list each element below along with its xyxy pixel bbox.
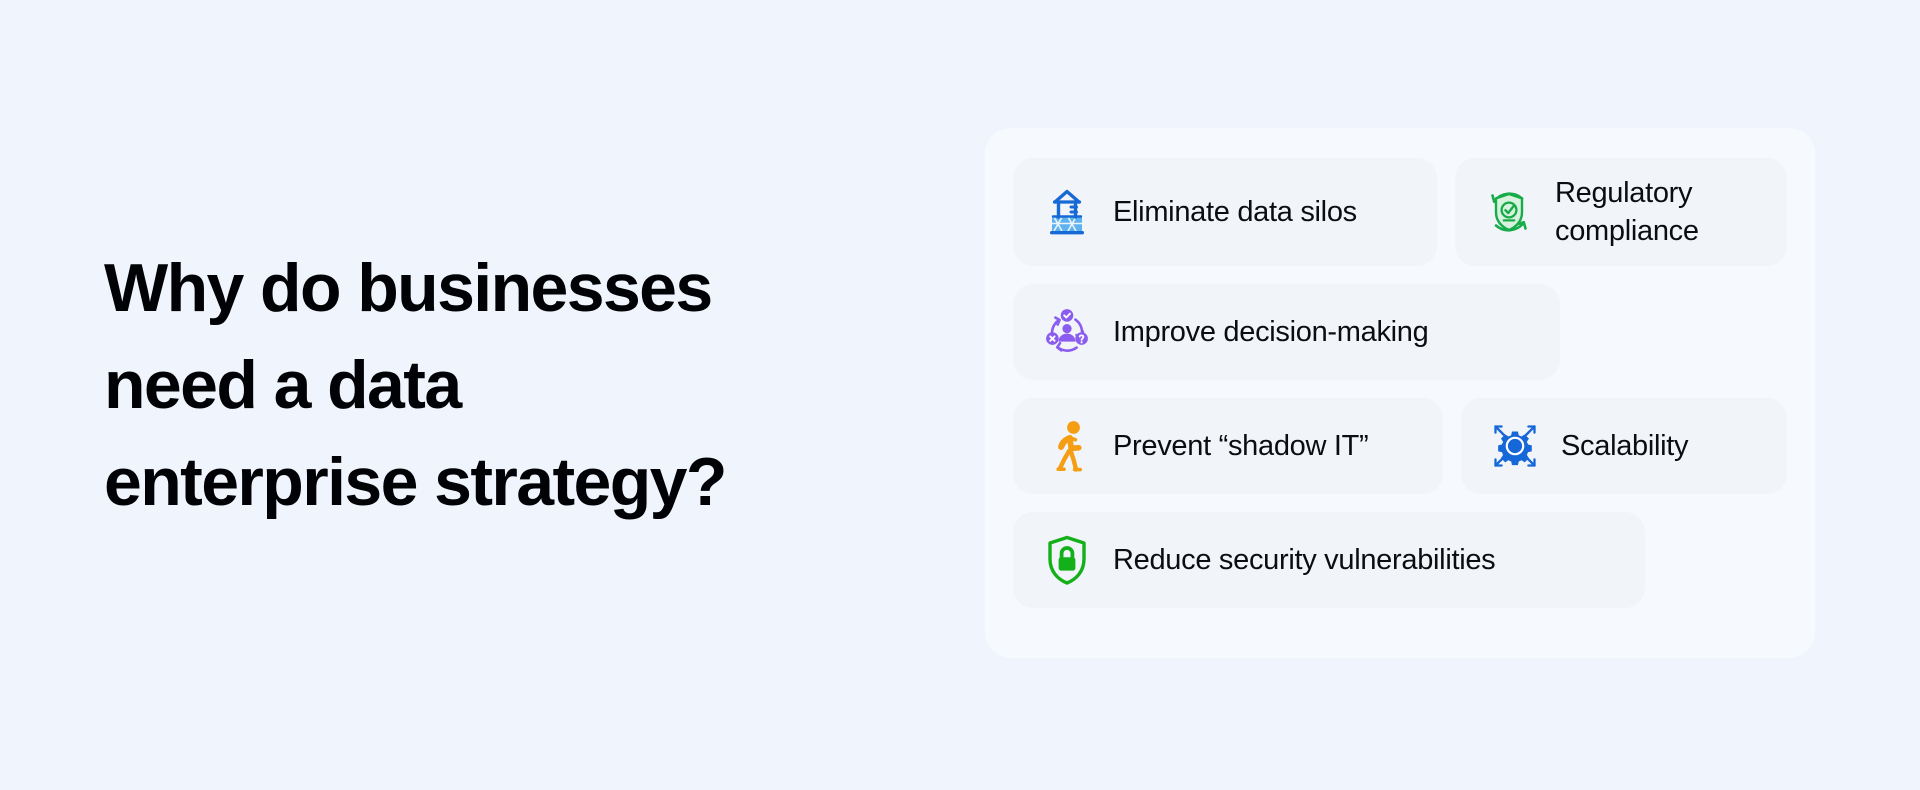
- benefit-label: Reduce security vulnerabilities: [1113, 541, 1495, 579]
- benefit-label: Prevent “shadow IT”: [1113, 427, 1368, 465]
- infographic-canvas: Why do businesses need a data enterprise…: [0, 0, 1920, 790]
- benefit-label-line-1: Regulatory: [1555, 177, 1692, 209]
- page-title-line-3: enterprise strategy?: [104, 434, 924, 531]
- benefit-card-scalability[interactable]: Scalability: [1461, 398, 1787, 494]
- sneaking-person-icon: [1039, 418, 1095, 474]
- benefits-row-1: Eliminate data silos: [1013, 158, 1787, 266]
- benefit-label: Improve decision-making: [1113, 313, 1428, 351]
- benefit-label: Eliminate data silos: [1113, 193, 1357, 231]
- water-tower-icon: [1039, 184, 1095, 240]
- shield-lock-icon: [1039, 532, 1095, 588]
- benefit-card-improve-decision-making[interactable]: Improve decision-making: [1013, 284, 1560, 380]
- benefit-card-reduce-security-vulnerabilities[interactable]: Reduce security vulnerabilities: [1013, 512, 1645, 608]
- benefits-row-3: Prevent “shadow IT”: [1013, 398, 1787, 494]
- page-title-line-2: need a data: [104, 337, 924, 434]
- decision-cycle-person-icon: [1039, 304, 1095, 360]
- benefit-card-regulatory-compliance[interactable]: Regulatory compliance: [1455, 158, 1787, 266]
- benefit-label: Regulatory compliance: [1555, 174, 1699, 250]
- gear-expand-icon: [1487, 418, 1543, 474]
- benefit-label-line-2: compliance: [1555, 215, 1699, 247]
- benefits-row-4: Reduce security vulnerabilities: [1013, 512, 1787, 608]
- benefits-row-2: Improve decision-making: [1013, 284, 1787, 380]
- benefit-label: Scalability: [1561, 427, 1688, 465]
- benefit-card-prevent-shadow-it[interactable]: Prevent “shadow IT”: [1013, 398, 1443, 494]
- page-title: Why do businesses need a data enterprise…: [104, 240, 924, 531]
- page-title-line-1: Why do businesses: [104, 240, 924, 337]
- shield-check-refresh-icon: [1481, 184, 1537, 240]
- benefits-panel: Eliminate data silos: [985, 128, 1815, 658]
- benefit-card-eliminate-data-silos[interactable]: Eliminate data silos: [1013, 158, 1437, 266]
